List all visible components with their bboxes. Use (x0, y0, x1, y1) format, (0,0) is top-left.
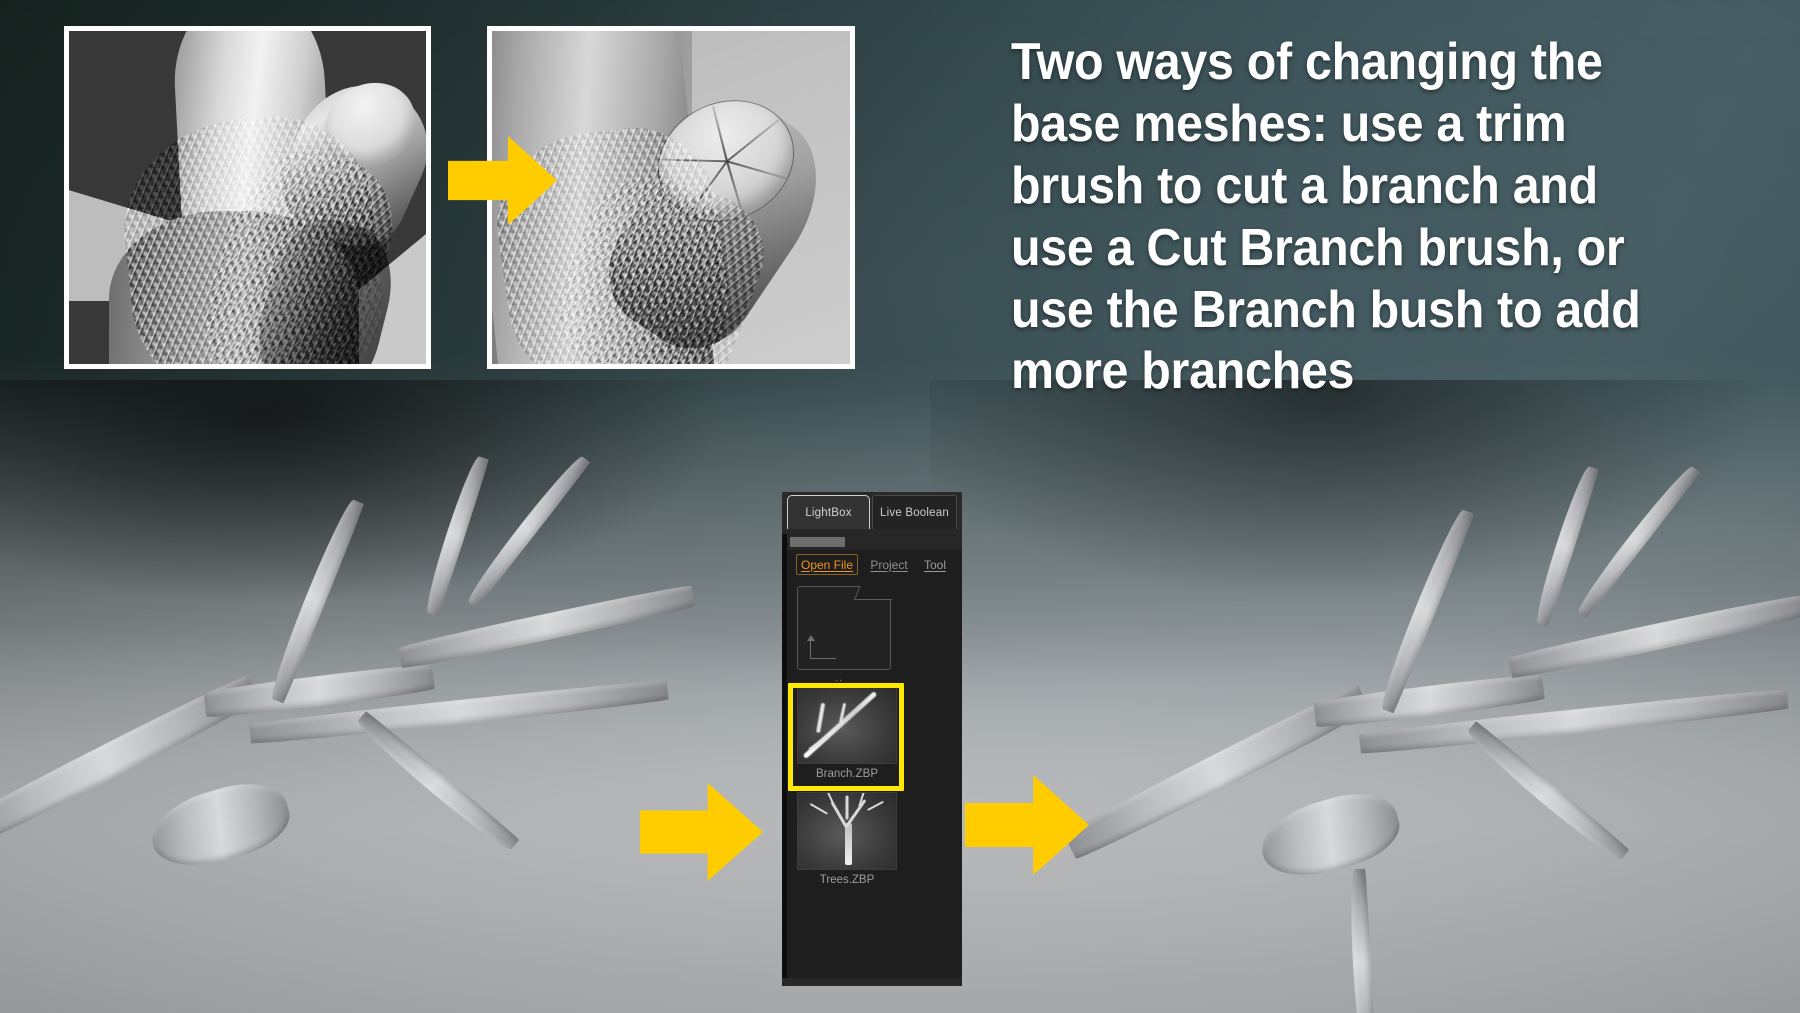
lightbox-tab-bar: LightBox Live Boolean (782, 492, 962, 530)
thumb-tree-trunk (845, 823, 852, 865)
thumb-tree-twig (846, 799, 867, 827)
cut-crack (726, 119, 779, 162)
thumbnail-trees (797, 792, 897, 870)
reference-image-before (64, 26, 431, 369)
file-tile-branch[interactable]: Branch.ZBP (791, 686, 909, 780)
cut-crack (712, 106, 728, 162)
cut-crack (727, 160, 789, 179)
filter-tool[interactable]: Tool (917, 554, 953, 575)
parent-folder-label: .. (835, 672, 843, 684)
thumb-tree-twig (867, 801, 884, 811)
thumb-branch-stroke (808, 735, 829, 751)
thumb-tree-twig (846, 795, 849, 819)
reference-image-after (487, 26, 855, 369)
antler-base-knot (143, 772, 297, 878)
file-tile-trees[interactable]: Trees.ZBP (791, 792, 909, 886)
thumb-branch-stroke (816, 703, 825, 733)
antler-added-branch (1348, 869, 1376, 1013)
file-label-trees: Trees.ZBP (791, 874, 903, 886)
filter-open-file[interactable]: Open File (796, 554, 858, 575)
filter-project[interactable]: Project (865, 554, 913, 575)
tab-lightbox[interactable]: LightBox (787, 495, 870, 529)
headline-text: Two ways of changing the base meshes: us… (1011, 32, 1653, 403)
lightbox-size-slider[interactable] (790, 537, 845, 547)
lightbox-filter-bar: Open File Project Tool (787, 550, 962, 578)
antler-base-knot (1253, 782, 1407, 888)
folder-up-icon[interactable] (797, 586, 891, 670)
thumb-tree-twig (810, 803, 828, 815)
slide-canvas: Two ways of changing the base meshes: us… (0, 0, 1800, 1013)
thumbnail-branch (797, 686, 897, 764)
antler-with-added-branch (1050, 390, 1800, 1013)
thumb-branch-stroke (803, 691, 878, 759)
antler-tine (353, 710, 520, 855)
folder-tab-shape (854, 586, 898, 600)
zbrush-lightbox-panel[interactable]: LightBox Live Boolean Open File Project … (782, 492, 962, 986)
antler-base-mesh (0, 390, 660, 1013)
up-arrow-icon (810, 637, 836, 659)
tab-live-boolean[interactable]: Live Boolean (872, 495, 957, 529)
file-label-branch: Branch.ZBP (791, 768, 903, 780)
antler-tine (1463, 720, 1630, 865)
lightbox-file-browser: Open File Project Tool .. Branch.ZBP (787, 550, 962, 978)
